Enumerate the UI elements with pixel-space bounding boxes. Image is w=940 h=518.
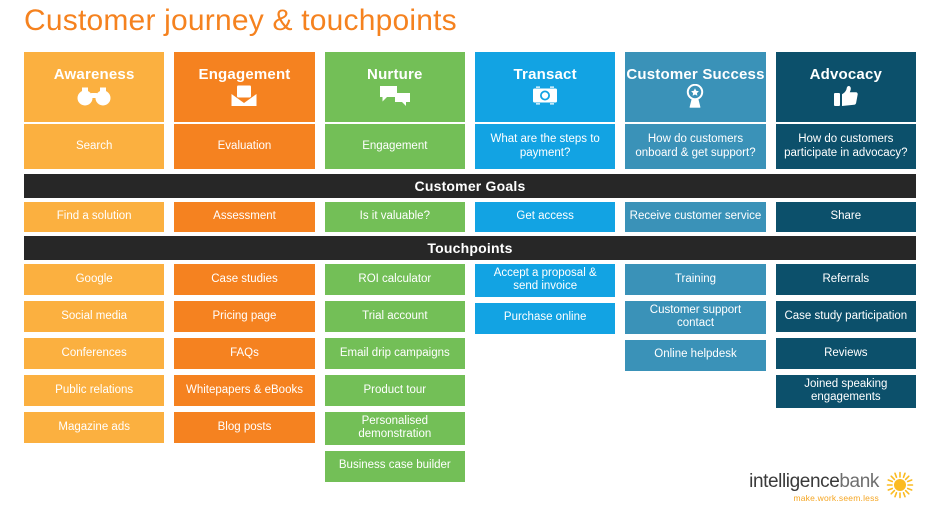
stage-question-awareness: Search [24, 124, 164, 169]
stage-question-transact: What are the steps to payment? [475, 124, 615, 169]
touchpoints-band: Touchpoints [24, 236, 916, 260]
award-medal-icon [684, 85, 706, 107]
binoculars-icon [77, 85, 111, 107]
touchpoint-column-advocacy: ReferralsCase study participationReviews… [776, 264, 916, 408]
touchpoint-item: Conferences [24, 338, 164, 369]
customer-goal-customer_success: Receive customer service [625, 202, 765, 232]
stage-column-advocacy: AdvocacyHow do customers participate in … [776, 52, 916, 169]
touchpoint-item: Blog posts [174, 412, 314, 443]
stage-header-customer_success[interactable]: Customer Success [625, 52, 765, 122]
stage-header-awareness[interactable]: Awareness [24, 52, 164, 122]
customer-goal-advocacy: Share [776, 202, 916, 232]
touchpoint-item: Magazine ads [24, 412, 164, 443]
stage-question-nurture: Engagement [325, 124, 465, 169]
customer-goal-awareness: Find a solution [24, 202, 164, 232]
touchpoint-item: Customer support contact [625, 301, 765, 334]
sunburst-icon [886, 471, 914, 504]
customer-journey-infographic: Customer journey & touchpoints Awareness… [0, 0, 940, 518]
customer-goals-band: Customer Goals [24, 174, 916, 198]
touchpoint-item: Email drip campaigns [325, 338, 465, 369]
touchpoint-item: Purchase online [475, 303, 615, 334]
stage-column-nurture: NurtureEngagement [325, 52, 465, 169]
touchpoint-item: Social media [24, 301, 164, 332]
thumbs-up-icon [833, 85, 859, 107]
stage-title-engagement: Engagement [198, 67, 290, 83]
touchpoint-column-nurture: ROI calculatorTrial accountEmail drip ca… [325, 264, 465, 482]
customer-goals-row: Find a solutionAssessmentIs it valuable?… [24, 202, 916, 232]
touchpoints-grid: GoogleSocial mediaConferencesPublic rela… [24, 264, 916, 482]
mail-envelope-icon [231, 85, 257, 107]
touchpoint-item: Personalised demonstration [325, 412, 465, 445]
stage-column-customer_success: Customer SuccessHow do customers onboard… [625, 52, 765, 169]
touchpoint-item: Joined speaking engagements [776, 375, 916, 408]
touchpoint-item: Trial account [325, 301, 465, 332]
stage-header-transact[interactable]: Transact [475, 52, 615, 122]
stage-question-advocacy: How do customers participate in advocacy… [776, 124, 916, 169]
logo-wordmark: intelligencebank [749, 472, 879, 491]
stage-header-advocacy[interactable]: Advocacy [776, 52, 916, 122]
customer-goals-band-label: Customer Goals [415, 178, 526, 194]
touchpoint-item: Google [24, 264, 164, 295]
stage-header-engagement[interactable]: Engagement [174, 52, 314, 122]
stage-title-awareness: Awareness [54, 67, 135, 83]
chat-bubbles-icon [379, 85, 411, 107]
journey-stage-columns: AwarenessSearchEngagementEvaluationNurtu… [24, 52, 916, 169]
stage-question-engagement: Evaluation [174, 124, 314, 169]
stage-column-awareness: AwarenessSearch [24, 52, 164, 169]
touchpoint-item: Online helpdesk [625, 340, 765, 371]
touchpoint-item: Case studies [174, 264, 314, 295]
stage-column-transact: TransactWhat are the steps to payment? [475, 52, 615, 169]
page-title: Customer journey & touchpoints [24, 4, 457, 38]
touchpoints-band-label: Touchpoints [427, 240, 512, 256]
logo-word-bold: bank [839, 471, 879, 492]
touchpoint-item: Product tour [325, 375, 465, 406]
customer-goal-engagement: Assessment [174, 202, 314, 232]
stage-title-transact: Transact [514, 67, 577, 83]
touchpoint-item: Public relations [24, 375, 164, 406]
touchpoint-item: Business case builder [325, 451, 465, 482]
stage-column-engagement: EngagementEvaluation [174, 52, 314, 169]
touchpoint-column-customer_success: TrainingCustomer support contactOnline h… [625, 264, 765, 371]
touchpoint-item: Case study participation [776, 301, 916, 332]
touchpoint-item: Reviews [776, 338, 916, 369]
stage-question-customer_success: How do customers onboard & get support? [625, 124, 765, 169]
logo-tagline: make.work.seem.less [749, 494, 879, 503]
intelligencebank-logo: intelligencebank make.work.seem.less [749, 471, 914, 504]
touchpoint-item: Whitepapers & eBooks [174, 375, 314, 406]
touchpoint-item: Training [625, 264, 765, 295]
logo-word-light: intelligence [749, 471, 839, 492]
touchpoint-column-engagement: Case studiesPricing pageFAQsWhitepapers … [174, 264, 314, 443]
stage-title-nurture: Nurture [367, 67, 423, 83]
touchpoint-item: Referrals [776, 264, 916, 295]
touchpoint-column-transact: Accept a proposal & send invoicePurchase… [475, 264, 615, 334]
customer-goal-nurture: Is it valuable? [325, 202, 465, 232]
touchpoint-item: Accept a proposal & send invoice [475, 264, 615, 297]
customer-goal-transact: Get access [475, 202, 615, 232]
stage-title-customer_success: Customer Success [626, 67, 764, 83]
touchpoint-item: FAQs [174, 338, 314, 369]
touchpoint-item: Pricing page [174, 301, 314, 332]
touchpoint-item: ROI calculator [325, 264, 465, 295]
touchpoint-column-awareness: GoogleSocial mediaConferencesPublic rela… [24, 264, 164, 443]
stage-header-nurture[interactable]: Nurture [325, 52, 465, 122]
logo-text: intelligencebank make.work.seem.less [749, 472, 879, 503]
stage-title-advocacy: Advocacy [810, 67, 882, 83]
banknote-icon [532, 85, 558, 107]
